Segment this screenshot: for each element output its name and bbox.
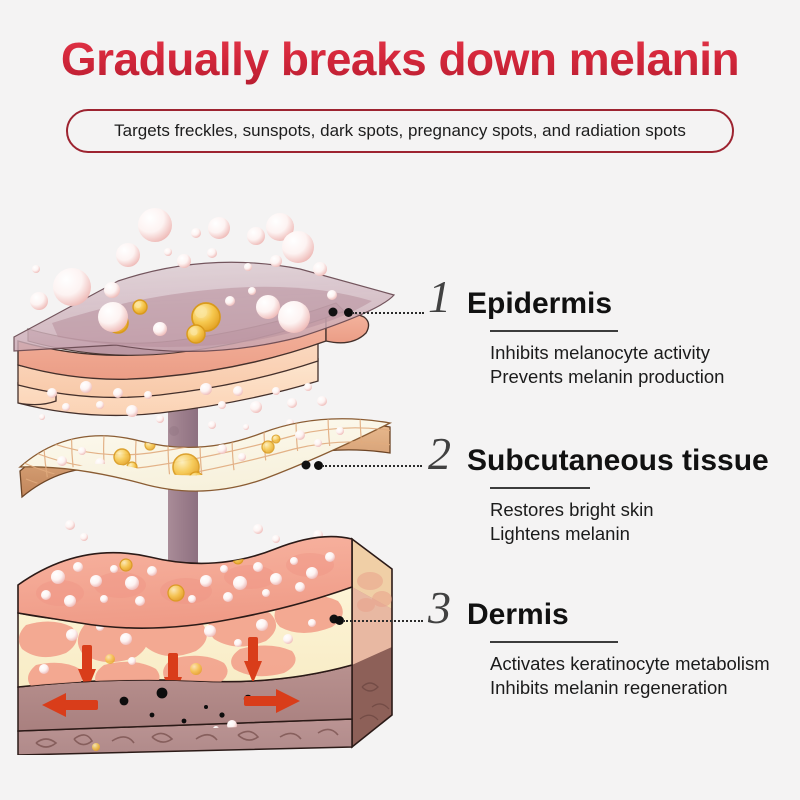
annotation-subcutaneous-tissue: 2 Subcutaneous tissue Restores bright sk…	[428, 432, 769, 547]
annotation-body: Restores bright skin Lightens melanin	[490, 498, 769, 548]
annotation-number: 1	[428, 275, 451, 319]
annotation-line: Activates keratinocyte metabolism	[490, 652, 770, 677]
annotation-divider	[490, 330, 618, 332]
annotation-line: Restores bright skin	[490, 498, 769, 523]
subtitle-text: Targets freckles, sunspots, dark spots, …	[114, 121, 686, 141]
subtitle-pill: Targets freckles, sunspots, dark spots, …	[66, 109, 734, 153]
annotation-line: Lightens melanin	[490, 522, 769, 547]
page-title: Gradually breaks down melanin	[0, 32, 800, 86]
annotation-heading: 3 Dermis	[428, 586, 770, 630]
skin-layers-illustration	[0, 195, 420, 755]
annotation-heading: 1 Epidermis	[428, 275, 724, 319]
annotation-title: Dermis	[467, 600, 569, 630]
annotation-line: Inhibits melanin regeneration	[490, 676, 770, 701]
dermis-block-group	[18, 537, 392, 755]
annotation-number: 2	[428, 432, 451, 476]
poster-canvas: Gradually breaks down melanin Targets fr…	[0, 0, 800, 800]
leader-line-subcutaneous	[322, 465, 422, 467]
annotation-title: Epidermis	[467, 289, 612, 319]
annotation-line: Prevents melanin production	[490, 365, 724, 390]
annotation-body: Activates keratinocyte metabolism Inhibi…	[490, 652, 770, 702]
annotation-dermis: 3 Dermis Activates keratinocyte metaboli…	[428, 586, 770, 701]
annotation-body: Inhibits melanocyte activity Prevents me…	[490, 341, 724, 391]
subcutaneous-layer-group	[20, 409, 396, 505]
leader-line-epidermis	[352, 312, 424, 314]
annotation-title: Subcutaneous tissue	[467, 446, 769, 476]
leader-line-dermis	[343, 620, 423, 622]
annotation-divider	[490, 641, 618, 643]
annotation-number: 3	[428, 586, 451, 630]
annotation-line: Inhibits melanocyte activity	[490, 341, 724, 366]
annotation-divider	[490, 487, 590, 489]
annotation-heading: 2 Subcutaneous tissue	[428, 432, 769, 476]
annotation-epidermis: 1 Epidermis Inhibits melanocyte activity…	[428, 275, 724, 390]
